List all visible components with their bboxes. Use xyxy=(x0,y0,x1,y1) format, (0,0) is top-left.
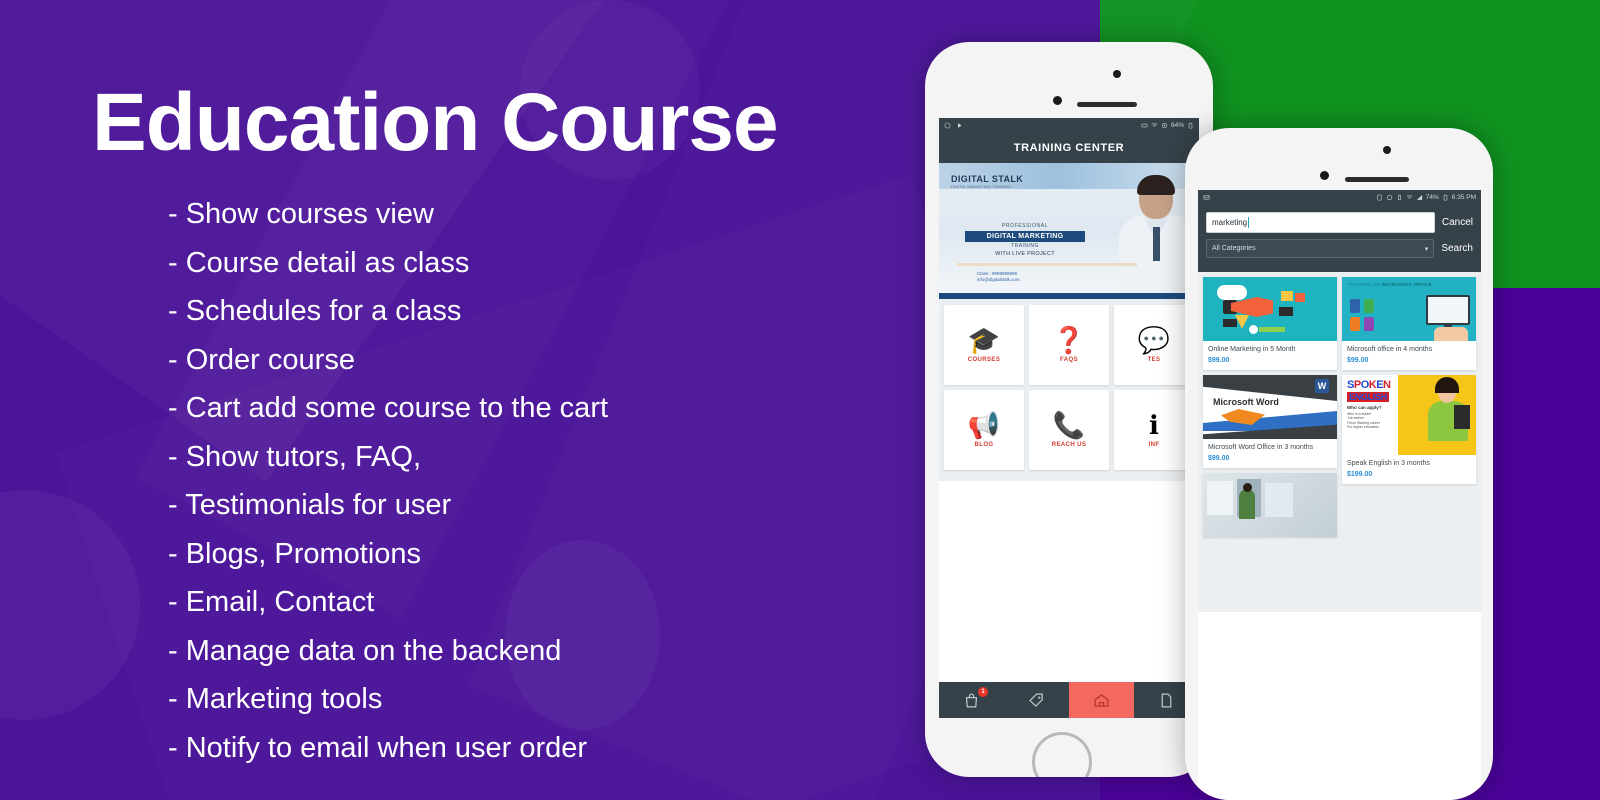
menu-item-blog[interactable]: 📢 BLOG xyxy=(944,390,1024,470)
dnd-icon xyxy=(1141,122,1148,129)
search-panel: marketing Cancel All Categories ▾ Search xyxy=(1198,205,1481,272)
hero-brand-name: DIGITAL STALK xyxy=(951,174,1023,184)
bottom-navigation: 1 xyxy=(939,682,1199,718)
search-input-value: marketing xyxy=(1212,218,1247,227)
result-card[interactable]: W Microsoft Word Microsoft Word Office i… xyxy=(1203,375,1337,468)
menu-item-testimonials[interactable]: 💬 TES xyxy=(1114,305,1194,385)
cart-badge: 1 xyxy=(978,687,988,697)
menu-grid: 🎓 COURSES ❓ FAQS 💬 TES 📢 BLOG xyxy=(939,299,1199,481)
status-right-icons: 74% 6:35 PM xyxy=(1376,194,1476,201)
status-right-icons: 64% xyxy=(1141,122,1194,129)
search-results-grid: Online Marketing in 5 Month $99.00 W Mic… xyxy=(1198,272,1481,612)
spoken-list: Who is a leader Job seeker Fresh Startin… xyxy=(1347,412,1380,430)
wifi-icon xyxy=(1151,122,1158,129)
card-thumbnail-office: TRAINING ON MICROSOFT OFFICE xyxy=(1342,277,1476,341)
menu-item-label: INF xyxy=(1149,442,1160,448)
menu-item-label: TES xyxy=(1148,357,1161,363)
chevron-down-icon: ▾ xyxy=(1425,245,1429,253)
list-item: - Email, Contact xyxy=(168,578,928,627)
contact-icon: 📞 xyxy=(1053,412,1085,438)
list-item: - Blogs, Promotions xyxy=(168,530,928,579)
card-title: Online Marketing in 5 Month xyxy=(1208,345,1332,354)
menu-grid-row: 📢 BLOG 📞 REACH US ℹ INF xyxy=(944,390,1194,470)
promo-banner: Education Course - Show courses view - C… xyxy=(0,0,1600,800)
card-price: $99.00 xyxy=(1208,357,1332,364)
menu-item-label: REACH US xyxy=(1052,442,1087,448)
card-price: $99.00 xyxy=(1347,357,1471,364)
battery-icon xyxy=(1442,194,1449,201)
nav-item-offers[interactable] xyxy=(1004,682,1069,718)
list-item: - Testimonials for user xyxy=(168,481,928,530)
results-column-left: Online Marketing in 5 Month $99.00 W Mic… xyxy=(1203,277,1337,607)
front-camera-icon xyxy=(1320,171,1329,180)
office-art-title: TRAINING ON MICROSOFT OFFICE xyxy=(1348,282,1432,287)
sim-icon xyxy=(1376,194,1383,201)
list-item: - Cart add some course to the cart xyxy=(168,384,928,433)
sensor-icon xyxy=(1383,146,1391,154)
settings-icon xyxy=(944,122,951,129)
hero-brand: DIGITAL STALK DIGITAL MARKETING TRAINING xyxy=(951,174,1023,189)
result-card[interactable]: SPOKEN ENGLISH Who can apply? Who is a l… xyxy=(1342,375,1476,484)
word-badge: W xyxy=(1315,379,1329,393)
list-item: - Notify to email when user order xyxy=(168,724,928,773)
hero-line-1: PROFESSIONAL xyxy=(965,223,1085,229)
battery-percent: 74% xyxy=(1426,194,1439,201)
speaker-grill xyxy=(1345,177,1409,182)
card-thumbnail-photo xyxy=(1203,473,1337,537)
testimonial-icon: 💬 xyxy=(1138,327,1170,353)
card-body: Microsoft Word Office in 3 months $99.00 xyxy=(1203,439,1337,468)
clock-time: 6:35 PM xyxy=(1452,194,1476,201)
hero-line-2: DIGITAL MARKETING xyxy=(965,231,1085,242)
list-item: - Course detail as class xyxy=(168,239,928,288)
battery-icon xyxy=(1187,122,1194,129)
spoken-word-1: SPOKEN xyxy=(1347,379,1391,391)
search-button[interactable]: Search xyxy=(1441,243,1473,254)
office-art-title-a: TRAINING ON xyxy=(1348,282,1382,287)
menu-grid-row: 🎓 COURSES ❓ FAQS 💬 TES xyxy=(944,305,1194,385)
menu-item-info[interactable]: ℹ INF xyxy=(1114,390,1194,470)
menu-item-faqs[interactable]: ❓ FAQS xyxy=(1029,305,1109,385)
results-column-right: TRAINING ON MICROSOFT OFFICE Microsoft o… xyxy=(1342,277,1476,607)
phone-mockup-search: 74% 6:35 PM marketing Cancel All Categor… xyxy=(1185,128,1493,800)
shopping-bag-icon xyxy=(963,692,980,709)
list-item: - Manage data on the backend xyxy=(168,627,928,676)
mail-icon xyxy=(1203,194,1210,201)
front-camera-icon xyxy=(1053,96,1062,105)
play-icon xyxy=(956,122,963,129)
speaker-grill xyxy=(1077,102,1137,107)
location-icon xyxy=(1161,122,1168,129)
hero-line-4: WITH LIVE PROJECT xyxy=(965,251,1085,257)
menu-item-label: COURSES xyxy=(968,357,1000,363)
card-thumbnail-spoken: SPOKEN ENGLISH Who can apply? Who is a l… xyxy=(1342,375,1476,455)
text-caret xyxy=(1248,217,1249,228)
home-button[interactable] xyxy=(1032,732,1092,777)
menu-item-courses[interactable]: 🎓 COURSES xyxy=(944,305,1024,385)
card-body: Speak English in 3 months $199.00 xyxy=(1342,455,1476,484)
result-card[interactable]: Online Marketing in 5 Month $99.00 xyxy=(1203,277,1337,370)
status-left-icons xyxy=(944,122,963,129)
card-body: Microsoft office in 4 months $99.00 xyxy=(1342,341,1476,370)
spoken-word-2: ENGLISH xyxy=(1347,392,1389,402)
card-price: $99.00 xyxy=(1208,455,1332,462)
signal-icon xyxy=(1416,194,1423,201)
app-bar-title: TRAINING CENTER xyxy=(939,133,1199,163)
status-bar: 74% 6:35 PM xyxy=(1198,190,1481,205)
list-item: - Show tutors, FAQ, xyxy=(168,433,928,482)
phone-home-screen: 64% TRAINING CENTER DIGITAL STALK DIGITA… xyxy=(939,118,1199,718)
search-input[interactable]: marketing xyxy=(1206,212,1435,233)
category-select[interactable]: All Categories ▾ xyxy=(1206,239,1434,258)
menu-item-label: FAQS xyxy=(1060,357,1078,363)
sensor-icon xyxy=(1113,70,1121,78)
result-card[interactable]: TRAINING ON MICROSOFT OFFICE Microsoft o… xyxy=(1342,277,1476,370)
search-row: marketing Cancel xyxy=(1206,212,1473,233)
document-icon xyxy=(1158,692,1175,709)
hero-brand-sub: DIGITAL MARKETING TRAINING xyxy=(951,184,1023,189)
card-title: Microsoft Word Office in 3 months xyxy=(1208,443,1332,452)
hero-divider xyxy=(957,263,1137,266)
status-left-icons xyxy=(1203,194,1210,201)
card-title: Speak English in 3 months xyxy=(1347,459,1471,468)
office-art-title-b: MICROSOFT OFFICE xyxy=(1382,282,1432,287)
price-tag-icon xyxy=(1028,692,1045,709)
card-price: $199.00 xyxy=(1347,471,1471,478)
menu-item-label: BLOG xyxy=(975,442,994,448)
cancel-button[interactable]: Cancel xyxy=(1442,217,1473,228)
battery-percent: 64% xyxy=(1171,122,1184,129)
result-card[interactable] xyxy=(1203,473,1337,537)
card-title: Microsoft office in 4 months xyxy=(1347,345,1471,354)
card-body: Online Marketing in 5 Month $99.00 xyxy=(1203,341,1337,370)
list-item: - Order course xyxy=(168,336,928,385)
feature-list: - Show courses view - Course detail as c… xyxy=(168,190,928,772)
hero-contact: Class : 9999999999 info@digitalstalk.com xyxy=(977,271,1020,283)
graduation-books-icon: 🎓 xyxy=(968,327,1000,353)
megaphone-icon: 📢 xyxy=(968,412,1000,438)
nav-item-home[interactable] xyxy=(1069,682,1134,718)
spoken-question: Who can apply? xyxy=(1347,405,1382,410)
vibrate-icon xyxy=(1396,194,1403,201)
list-item: - Schedules for a class xyxy=(168,287,928,336)
home-icon xyxy=(1093,692,1110,709)
status-bar: 64% xyxy=(939,118,1199,133)
hero-banner[interactable]: DIGITAL STALK DIGITAL MARKETING TRAINING… xyxy=(939,163,1199,293)
dnd-icon xyxy=(1386,194,1393,201)
info-icon: ℹ xyxy=(1149,412,1159,438)
category-row: All Categories ▾ Search xyxy=(1206,239,1473,258)
list-item: - Show courses view xyxy=(168,190,928,239)
wifi-icon xyxy=(1406,194,1413,201)
question-mark-icon: ❓ xyxy=(1053,327,1085,353)
list-item: - Marketing tools xyxy=(168,675,928,724)
page-title: Education Course xyxy=(92,82,778,164)
menu-item-reach-us[interactable]: 📞 REACH US xyxy=(1029,390,1109,470)
nav-item-cart[interactable]: 1 xyxy=(939,682,1004,718)
category-select-value: All Categories xyxy=(1212,245,1256,252)
word-label: Microsoft Word xyxy=(1213,397,1279,407)
phone-mockup-home: 64% TRAINING CENTER DIGITAL STALK DIGITA… xyxy=(925,42,1213,777)
card-thumbnail-marketing xyxy=(1203,277,1337,341)
phone-search-screen: 74% 6:35 PM marketing Cancel All Categor… xyxy=(1198,190,1481,800)
hero-line-3: TRAINING xyxy=(965,243,1085,249)
card-thumbnail-word: W Microsoft Word xyxy=(1203,375,1337,439)
